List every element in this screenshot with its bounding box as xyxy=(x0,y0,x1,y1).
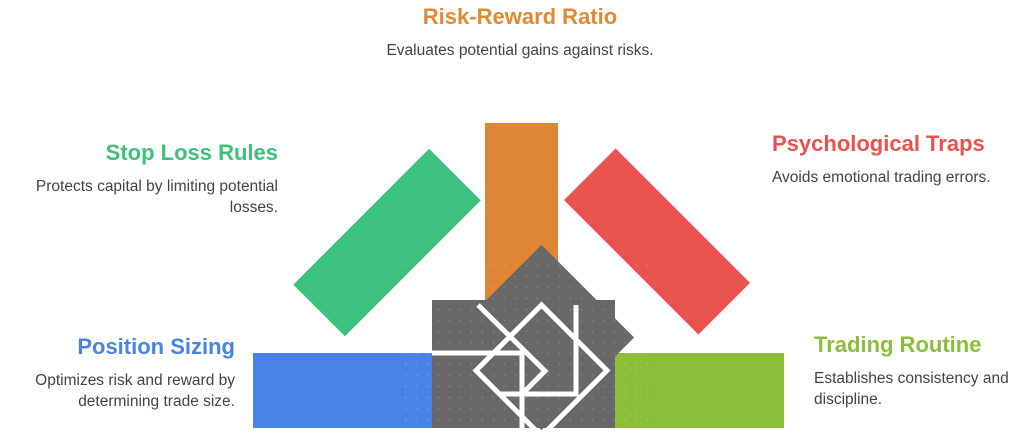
shape-trading-routine xyxy=(610,353,784,428)
label-stop-loss-rules: Stop Loss Rules Protects capital by limi… xyxy=(28,140,278,219)
label-trading-routine: Trading Routine Establishes consistency … xyxy=(814,332,1024,411)
infographic-canvas: Risk-Reward Ratio Evaluates potential ga… xyxy=(0,0,1024,446)
label-risk-reward-ratio: Risk-Reward Ratio Evaluates potential ga… xyxy=(350,4,690,61)
title-position-sizing: Position Sizing xyxy=(0,334,235,361)
desc-risk-reward-ratio: Evaluates potential gains against risks. xyxy=(350,40,690,61)
title-risk-reward-ratio: Risk-Reward Ratio xyxy=(350,4,690,31)
desc-trading-routine: Establishes consistency and discipline. xyxy=(814,368,1024,411)
title-trading-routine: Trading Routine xyxy=(814,332,1024,359)
shape-position-sizing xyxy=(253,353,435,428)
desc-stop-loss-rules: Protects capital by limiting potential l… xyxy=(28,176,278,219)
desc-psychological-traps: Avoids emotional trading errors. xyxy=(772,167,1004,188)
hub-square xyxy=(432,300,615,428)
title-stop-loss-rules: Stop Loss Rules xyxy=(28,140,278,167)
label-position-sizing: Position Sizing Optimizes risk and rewar… xyxy=(0,334,235,413)
desc-position-sizing: Optimizes risk and reward by determining… xyxy=(0,370,235,413)
title-psychological-traps: Psychological Traps xyxy=(772,131,1004,158)
label-psychological-traps: Psychological Traps Avoids emotional tra… xyxy=(772,131,1004,188)
